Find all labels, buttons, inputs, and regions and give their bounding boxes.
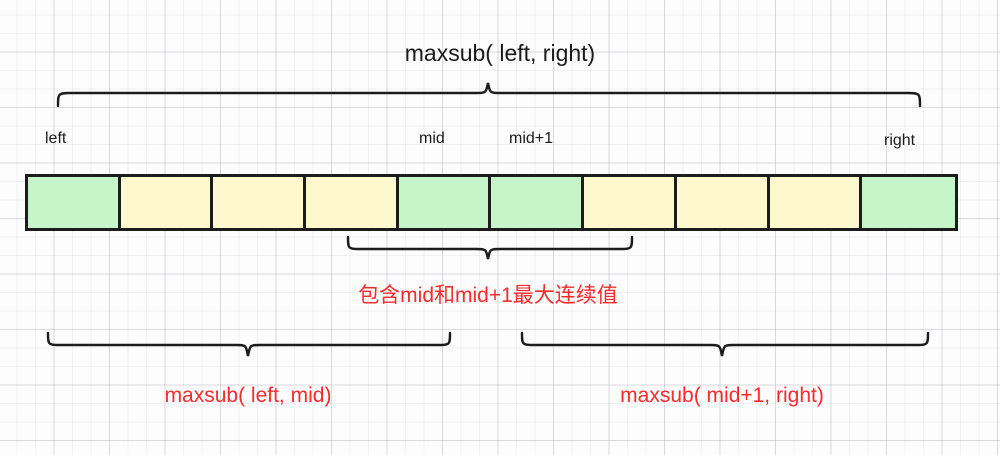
marker-right-label: right bbox=[884, 133, 915, 149]
array-strip bbox=[25, 174, 958, 231]
middle-cross-mid-brace bbox=[348, 237, 632, 259]
maxsub-full-range-label: maxsub( left, right) bbox=[0, 42, 1000, 65]
marker-left-label: left bbox=[45, 131, 66, 147]
array-cell bbox=[121, 177, 214, 228]
array-cell bbox=[677, 177, 770, 228]
array-cell bbox=[213, 177, 306, 228]
maxsub-left-half-label: maxsub( left, mid) bbox=[0, 385, 496, 406]
array-cell bbox=[399, 177, 492, 228]
cross-mid-label: 包含mid和mid+1最大连续值 bbox=[0, 285, 976, 306]
maxsub-right-half-label: maxsub( mid+1, right) bbox=[520, 385, 924, 406]
bottom-left-half-brace bbox=[48, 333, 450, 356]
array-cell bbox=[491, 177, 584, 228]
array-cell bbox=[306, 177, 399, 228]
top-full-range-brace bbox=[58, 83, 920, 106]
array-cell bbox=[862, 177, 955, 228]
marker-mid-label: mid bbox=[419, 131, 445, 147]
bottom-right-half-brace bbox=[522, 333, 928, 356]
diagram-canvas: maxsub( left, right) left mid mid+1 righ… bbox=[0, 0, 1000, 455]
array-cell bbox=[584, 177, 677, 228]
array-cell bbox=[28, 177, 121, 228]
marker-mid-plus-1-label: mid+1 bbox=[509, 131, 553, 147]
array-cell bbox=[770, 177, 863, 228]
